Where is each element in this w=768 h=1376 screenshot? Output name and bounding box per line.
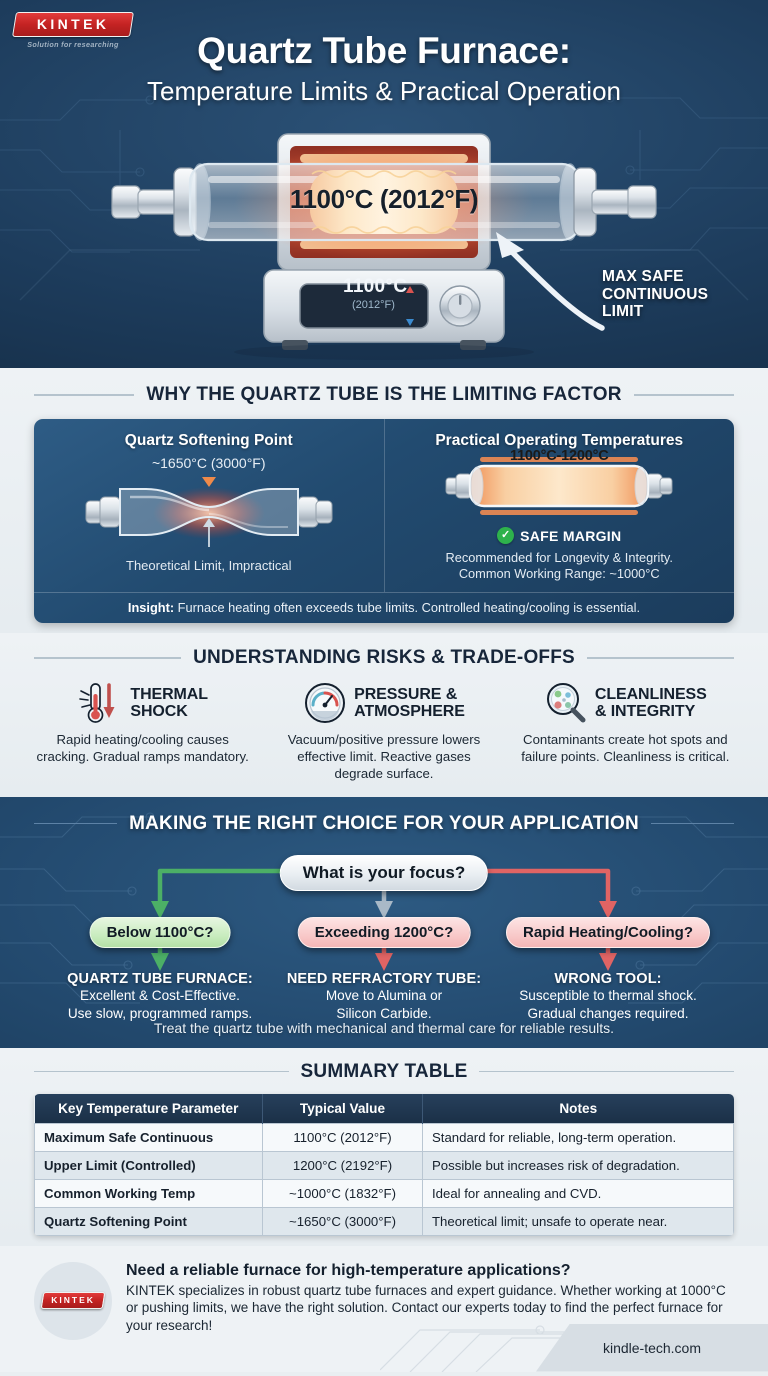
table-col-value: Typical Value xyxy=(263,1094,423,1124)
table-cell-value: ~1000°C (1832°F) xyxy=(263,1179,423,1207)
risk-title-line-2: SHOCK xyxy=(130,703,208,720)
max-safe-callout: MAX SAFE CONTINUOUS LIMIT xyxy=(602,268,754,321)
operating-range-label: 1100°C-1200°C xyxy=(510,448,608,464)
table-row: Maximum Safe Continuous 1100°C (2012°F) … xyxy=(35,1123,734,1151)
outcome-title: QUARTZ TUBE FURNACE: xyxy=(35,971,285,987)
table-col-parameter: Key Temperature Parameter xyxy=(35,1094,263,1124)
limiting-factor-heading: WHY THE QUARTZ TUBE IS THE LIMITING FACT… xyxy=(0,384,768,406)
website-url: kindle-tech.com xyxy=(603,1340,701,1356)
risk-title-cleanliness-integrity: CLEANLINESS & INTEGRITY xyxy=(595,686,707,721)
risk-title-line-1: PRESSURE & xyxy=(354,686,465,703)
table-cell-parameter: Upper Limit (Controlled) xyxy=(35,1151,263,1179)
tree-outcome-refractory-tube: NEED REFRACTORY TUBE: Move to Alumina or… xyxy=(259,971,509,1023)
hero-section: KINTEK Solution for researching Quartz T… xyxy=(0,0,768,368)
outcome-line-2: Silicon Carbide. xyxy=(259,1006,509,1023)
cta-brand-name: KINTEK xyxy=(43,1295,103,1305)
divider-line-left xyxy=(34,394,134,396)
insight-text: Furnace heating often exceeds tube limit… xyxy=(174,600,640,615)
tree-root-node[interactable]: What is your focus? xyxy=(280,855,488,891)
risk-desc-cleanliness-integrity: Contaminants create hot spots and failur… xyxy=(513,732,738,766)
furnace-svg xyxy=(104,128,664,368)
furnace-illustration: 1100°C (2012°F) xyxy=(0,128,768,368)
risks-heading-text: UNDERSTANDING RISKS & TRADE-OFFS xyxy=(193,647,575,669)
divider-line-left xyxy=(34,823,117,825)
summary-table-section: SUMMARY TABLE Key Temperature Parameter … xyxy=(0,1048,768,1246)
risks-grid: THERMAL SHOCK Rapid heating/cooling caus… xyxy=(22,681,746,782)
outcome-title: WRONG TOOL: xyxy=(483,971,733,987)
safe-margin-badge: ✓ SAFE MARGIN xyxy=(395,527,725,544)
tree-outcome-wrong-tool: WRONG TOOL: Susceptible to thermal shock… xyxy=(483,971,733,1023)
cta-logo-plate: KINTEK xyxy=(41,1292,106,1309)
risk-title-pressure-atmosphere: PRESSURE & ATMOSPHERE xyxy=(354,686,465,721)
table-row: Quartz Softening Point ~1650°C (3000°F) … xyxy=(35,1207,734,1235)
callout-line-2: CONTINUOUS xyxy=(602,286,754,304)
risk-card-thermal-shock: THERMAL SHOCK Rapid heating/cooling caus… xyxy=(22,681,263,782)
practical-note-line-1: Recommended for Longevity & Integrity. xyxy=(395,550,725,566)
table-cell-value: 1100°C (2012°F) xyxy=(263,1123,423,1151)
website-tab[interactable]: kindle-tech.com xyxy=(536,1324,768,1372)
outcome-line-1: Excellent & Cost-Effective. xyxy=(35,988,285,1005)
divider-line-right xyxy=(634,394,734,396)
summary-table: Key Temperature Parameter Typical Value … xyxy=(34,1094,734,1236)
quartz-softening-caption: Theoretical Limit, Impractical xyxy=(44,558,374,573)
magnifier-contaminants-icon xyxy=(544,681,588,725)
cta-title: Need a reliable furnace for high-tempera… xyxy=(126,1262,734,1280)
table-cell-notes: Ideal for annealing and CVD. xyxy=(423,1179,734,1207)
risk-title-thermal-shock: THERMAL SHOCK xyxy=(130,686,208,721)
table-cell-parameter: Maximum Safe Continuous xyxy=(35,1123,263,1151)
tube-temperature-label: 1100°C (2012°F) xyxy=(290,184,478,215)
thermometer-crack-icon xyxy=(77,681,123,725)
table-col-notes: Notes xyxy=(423,1094,734,1124)
safe-margin-text: SAFE MARGIN xyxy=(520,528,621,544)
outcome-line-1: Susceptible to thermal shock. xyxy=(483,988,733,1005)
divider-line-left xyxy=(34,657,181,659)
divider-line-right xyxy=(651,823,734,825)
table-cell-parameter: Common Working Temp xyxy=(35,1179,263,1207)
table-cell-parameter: Quartz Softening Point xyxy=(35,1207,263,1235)
operating-tube-icon xyxy=(444,455,674,517)
insight-label: Insight: xyxy=(128,600,174,615)
summary-heading-text: SUMMARY TABLE xyxy=(301,1061,468,1083)
outcome-line-2: Gradual changes required. xyxy=(483,1006,733,1023)
table-header-row: Key Temperature Parameter Typical Value … xyxy=(35,1094,734,1124)
table-cell-notes: Theoretical limit; unsafe to operate nea… xyxy=(423,1207,734,1235)
table-row: Upper Limit (Controlled) 1200°C (2192°F)… xyxy=(35,1151,734,1179)
tree-outcome-quartz-tube-furnace: QUARTZ TUBE FURNACE: Excellent & Cost-Ef… xyxy=(35,971,285,1023)
risk-card-pressure-atmosphere: PRESSURE & ATMOSPHERE Vacuum/positive pr… xyxy=(263,681,504,782)
cta-logo-badge: KINTEK xyxy=(34,1262,112,1340)
outcome-line-2: Use slow, programmed ramps. xyxy=(35,1006,285,1023)
cta-section: KINTEK Need a reliable furnace for high-… xyxy=(0,1246,768,1372)
callout-line-3: LIMIT xyxy=(602,303,754,321)
table-cell-value: ~1650°C (3000°F) xyxy=(263,1207,423,1235)
tree-branch-rapid-heating[interactable]: Rapid Heating/Cooling? xyxy=(506,917,710,948)
risks-section: UNDERSTANDING RISKS & TRADE-OFFS xyxy=(0,633,768,796)
tree-heading: MAKING THE RIGHT CHOICE FOR YOUR APPLICA… xyxy=(0,813,768,835)
limiting-factor-heading-text: WHY THE QUARTZ TUBE IS THE LIMITING FACT… xyxy=(146,384,621,406)
decision-tree-canvas: What is your focus? Below 1100°C? Exceed… xyxy=(0,843,768,1018)
quartz-softening-temp: ~1650°C (3000°F) xyxy=(44,455,374,471)
tree-branch-below-1100[interactable]: Below 1100°C? xyxy=(90,917,231,948)
practical-note-line-2: Common Working Range: ~1000°C xyxy=(395,566,725,582)
risk-title-line-1: THERMAL xyxy=(130,686,208,703)
risk-card-cleanliness-integrity: CLEANLINESS & INTEGRITY Contaminants cre… xyxy=(505,681,746,782)
risk-title-line-1: CLEANLINESS xyxy=(595,686,707,703)
page-subtitle: Temperature Limits & Practical Operation xyxy=(0,76,768,107)
table-cell-notes: Standard for reliable, long-term operati… xyxy=(423,1123,734,1151)
decision-tree-section: MAKING THE RIGHT CHOICE FOR YOUR APPLICA… xyxy=(0,797,768,1048)
quartz-softening-title: Quartz Softening Point xyxy=(44,432,374,450)
divider-line-right xyxy=(479,1071,734,1073)
outcome-line-1: Move to Alumina or xyxy=(259,988,509,1005)
page-title: Quartz Tube Furnace: xyxy=(0,30,768,72)
callout-line-1: MAX SAFE xyxy=(602,268,754,286)
quartz-softening-card: Quartz Softening Point ~1650°C (3000°F) xyxy=(34,419,385,592)
outcome-title: NEED REFRACTORY TUBE: xyxy=(259,971,509,987)
pressure-gauge-icon xyxy=(303,681,347,725)
table-cell-notes: Possible but increases risk of degradati… xyxy=(423,1151,734,1179)
controller-display-main: 1100°C xyxy=(343,276,407,298)
divider-line-right xyxy=(587,657,734,659)
controller-display-sub: (2012°F) xyxy=(352,299,395,311)
table-row: Common Working Temp ~1000°C (1832°F) Ide… xyxy=(35,1179,734,1207)
insight-bar: Insight: Furnace heating often exceeds t… xyxy=(34,592,734,623)
risk-title-line-2: ATMOSPHERE xyxy=(354,703,465,720)
limiting-factor-panel: Quartz Softening Point ~1650°C (3000°F) xyxy=(34,419,734,623)
risk-desc-thermal-shock: Rapid heating/cooling causes cracking. G… xyxy=(30,732,255,766)
risks-heading: UNDERSTANDING RISKS & TRADE-OFFS xyxy=(0,647,768,669)
hero-title-block: Quartz Tube Furnace: Temperature Limits … xyxy=(0,30,768,107)
risk-title-line-2: & INTEGRITY xyxy=(595,703,707,720)
tree-heading-text: MAKING THE RIGHT CHOICE FOR YOUR APPLICA… xyxy=(129,813,639,835)
summary-heading: SUMMARY TABLE xyxy=(0,1061,768,1083)
tree-branch-exceeding-1200[interactable]: Exceeding 1200°C? xyxy=(298,917,471,948)
table-cell-value: 1200°C (2192°F) xyxy=(263,1151,423,1179)
limiting-factor-section: WHY THE QUARTZ TUBE IS THE LIMITING FACT… xyxy=(0,368,768,633)
risk-desc-pressure-atmosphere: Vacuum/positive pressure lowers effectiv… xyxy=(271,732,496,782)
divider-line-left xyxy=(34,1071,289,1073)
practical-operating-card: Practical Operating Temperatures xyxy=(385,419,735,592)
check-icon: ✓ xyxy=(497,527,514,544)
infographic-page: KINTEK Solution for researching Quartz T… xyxy=(0,0,768,1376)
deformed-tube-icon xyxy=(84,473,334,551)
